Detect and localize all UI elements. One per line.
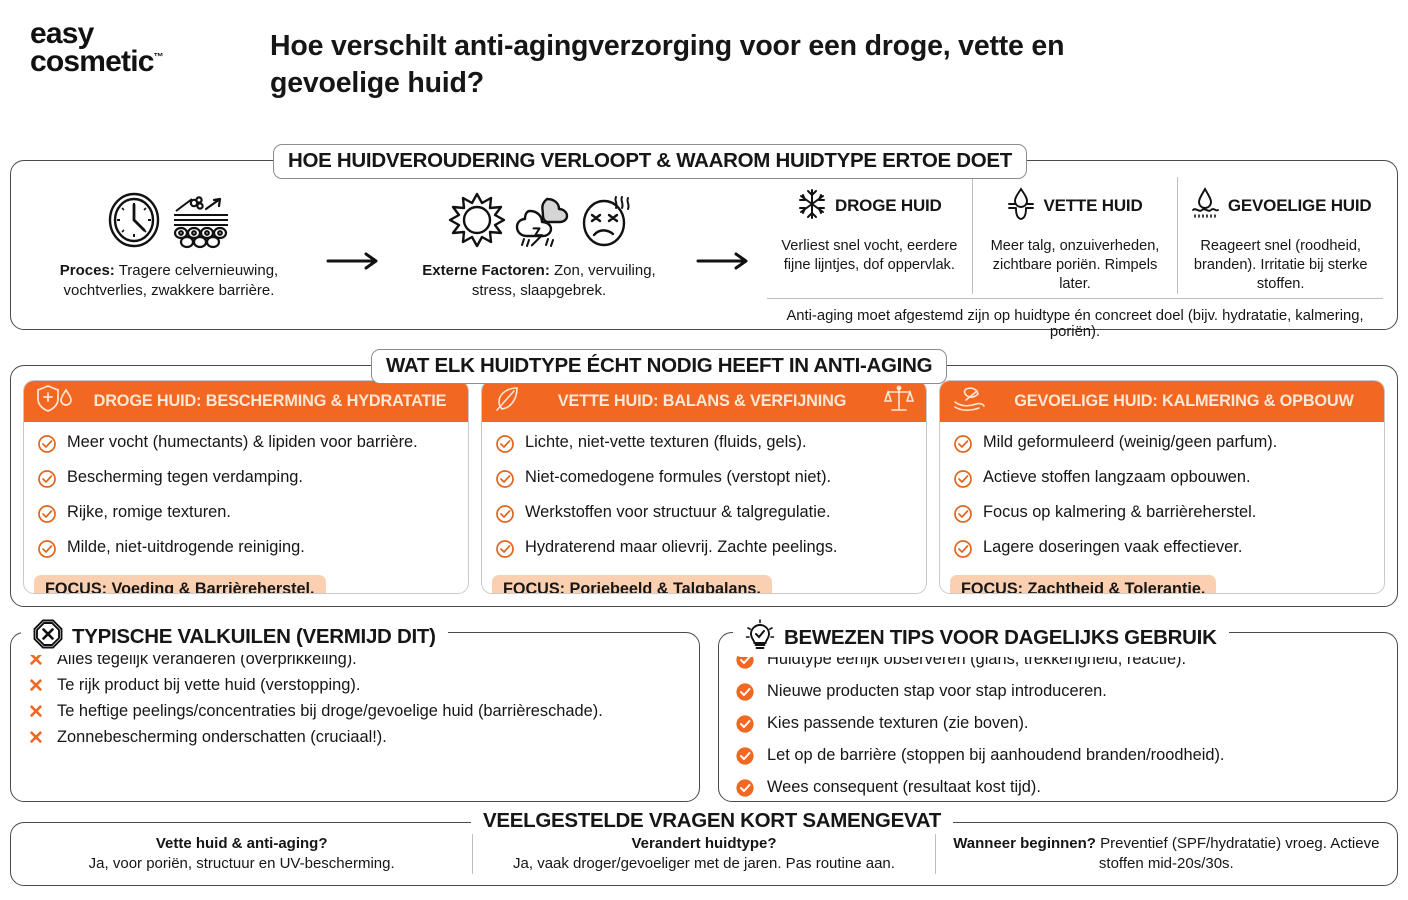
section-tips: BEWEZEN TIPS VOOR DAGELIJKS GEBRUIK Huid… [718, 632, 1398, 802]
list-item: Lagere doseringen vaak effectiever. [953, 538, 1371, 565]
flow-step-process: Proces: Tragere celvernieuwing, vochtver… [19, 177, 319, 319]
skin-type-dry: DROGE HUID Verliest snel vocht, eerdere … [767, 177, 972, 294]
x-mark-icon: ✕ [27, 701, 45, 722]
faq-item-2: Verandert huidtype? Ja, vaak droger/gevo… [472, 834, 934, 875]
section-title-faq: VEELGESTELDE VRAGEN KORT SAMENGEVAT [471, 809, 953, 833]
card-oily-skin: VETTE HUID: BALANS & VERFIJNING Lichte, … [481, 380, 927, 594]
list-item: Lichte, niet-vette texturen (fluids, gel… [495, 433, 913, 460]
list-item-text: Focus op kalmering & barrièreherstel. [983, 503, 1256, 523]
card-oily-skin-header: VETTE HUID: BALANS & VERFIJNING [482, 381, 926, 422]
list-item-text: Lichte, niet-vette texturen (fluids, gel… [525, 433, 807, 453]
feather-icon [494, 385, 520, 418]
trademark-mark: ™ [154, 52, 163, 63]
faq-item-3: Wanneer beginnen? Preventief (SPF/hydrat… [935, 834, 1397, 875]
card-sensitive-skin-title: GEVOELIGE HUID: KALMERING & OPBOUW [996, 392, 1372, 411]
faq-item-3-answer: Preventief (SPF/hydratatie) vroeg. Actie… [1096, 835, 1379, 872]
skin-type-oily-label: VETTE HUID [1043, 196, 1142, 216]
flow-step-external-label: Externe Factoren: [422, 262, 550, 279]
check-circle-icon [37, 503, 57, 530]
flow-step-process-caption: Proces: Tragere celvernieuwing, vochtver… [19, 261, 319, 301]
list-item: Rijke, romige texturen. [37, 503, 455, 530]
snowflake-icon [797, 188, 827, 225]
check-circle-icon [37, 538, 57, 565]
check-circle-filled-icon [735, 745, 755, 772]
section-title-pitfalls-wrap: TYPISCHE VALKUILEN (VERMIJD DIT) [21, 619, 448, 655]
list-item: ✕ Te heftige peelings/concentraties bij … [27, 701, 685, 722]
section-title-needs: WAT ELK HUIDTYPE ÉCHT NODIG HEEFT IN ANT… [371, 349, 947, 384]
list-item: Bescherming tegen verdamping. [37, 468, 455, 495]
faq-item-1: Vette huid & anti-aging? Ja, voor poriën… [11, 834, 472, 875]
list-item-text: Meer vocht (humectants) & lipiden voor b… [67, 433, 418, 453]
list-item-text: Niet-comedogene formules (verstopt niet)… [525, 468, 831, 488]
droplet-irritation-icon [1190, 187, 1220, 226]
section-pitfalls: TYPISCHE VALKUILEN (VERMIJD DIT) ✕ Alles… [10, 632, 700, 802]
x-mark-icon: ✕ [27, 727, 45, 748]
list-item-text: Let op de barrière (stoppen bij aanhoude… [767, 745, 1224, 766]
card-dry-skin-title: DROGE HUID: BESCHERMING & HYDRATATIE [84, 392, 456, 411]
tips-list: Huidtype eerlijk observeren (glans, trek… [719, 633, 1397, 804]
faq-item-1-question: Vette huid & anti-aging? [156, 835, 328, 852]
list-item: ✕ Te rijk product bij vette huid (versto… [27, 675, 685, 696]
x-mark-icon: ✕ [27, 675, 45, 696]
check-circle-filled-icon [735, 777, 755, 804]
list-item: Hydraterend maar olievrij. Zachte peelin… [495, 538, 913, 565]
check-circle-filled-icon [735, 713, 755, 740]
section-title-pitfalls: TYPISCHE VALKUILEN (VERMIJD DIT) [72, 625, 436, 649]
skin-type-oily: VETTE HUID Meer talg, onzuiverheden, zic… [972, 177, 1178, 294]
check-circle-icon [953, 468, 973, 495]
list-item: Meer vocht (humectants) & lipiden voor b… [37, 433, 455, 460]
list-item-text: Mild geformuleerd (weinig/geen parfum). [983, 433, 1277, 453]
skin-type-oily-desc: Meer talg, onzuiverheden, zichtbare pori… [983, 237, 1168, 294]
skin-type-sensitive-desc: Reageert snel (roodheid, branden). Irrit… [1188, 237, 1373, 294]
check-circle-icon [495, 503, 515, 530]
faq-item-1-answer: Ja, voor poriën, structuur en UV-bescher… [89, 855, 395, 872]
stressed-face-icon [580, 191, 630, 254]
section-title-aging: HOE HUIDVEROUDERING VERLOOPT & WAAROM HU… [273, 144, 1027, 179]
balance-scale-icon [884, 384, 914, 419]
list-item-text: Werkstoffen voor structuur & talgregulat… [525, 503, 831, 523]
skin-type-sensitive-label: GEVOELIGE HUID [1228, 196, 1372, 216]
section-what-each-type-needs: WAT ELK HUIDTYPE ÉCHT NODIG HEEFT IN ANT… [10, 365, 1398, 607]
flow-step-external: Externe Factoren: Zon, vervuiling, stres… [389, 177, 689, 319]
list-item: Niet-comedogene formules (verstopt niet)… [495, 468, 913, 495]
list-item-text: Te heftige peelings/concentraties bij dr… [57, 701, 603, 722]
flow-step-external-caption: Externe Factoren: Zon, vervuiling, stres… [389, 261, 689, 301]
list-item: Mild geformuleerd (weinig/geen parfum). [953, 433, 1371, 460]
shield-plus-droplet-icon [36, 384, 74, 419]
card-dry-skin-header: DROGE HUID: BESCHERMING & HYDRATATIE [24, 381, 468, 422]
flow-step-process-icons [19, 189, 319, 255]
list-item: Focus op kalmering & barrièreherstel. [953, 503, 1371, 530]
check-circle-icon [495, 433, 515, 460]
card-sensitive-skin-header: GEVOELIGE HUID: KALMERING & OPBOUW [940, 381, 1384, 422]
card-dry-skin-focus: FOCUS: Voeding & Barrièreherstel. [34, 575, 326, 594]
skin-type-sensitive: GEVOELIGE HUID Reageert snel (roodheid, … [1177, 177, 1383, 294]
flow-arrow-1 [319, 177, 389, 319]
faq-item-2-question: Verandert huidtype? [631, 835, 776, 852]
list-item: Milde, niet-uitdrogende reiniging. [37, 538, 455, 565]
sebum-pore-icon [1007, 187, 1035, 226]
check-circle-icon [495, 538, 515, 565]
faq-item-2-answer: Ja, vaak droger/gevoeliger met de jaren.… [513, 855, 895, 872]
card-dry-skin-items: Meer vocht (humectants) & lipiden voor b… [24, 422, 468, 573]
skin-types-summary: DROGE HUID Verliest snel vocht, eerdere … [759, 177, 1389, 319]
section-title-tips-wrap: BEWEZEN TIPS VOOR DAGELIJKS GEBRUIK [733, 619, 1229, 657]
brand-line-2: cosmetic™ [30, 48, 163, 76]
list-item-text: Kies passende texturen (zie boven). [767, 713, 1029, 734]
storm-cloud-icon [514, 191, 572, 254]
check-circle-filled-icon [735, 681, 755, 708]
flow-step-external-icons [389, 189, 689, 255]
page-header: easy cosmetic™ Hoe verschilt anti-agingv… [0, 0, 1408, 130]
list-item: Wees consequent (resultaat kost tijd). [735, 777, 1383, 804]
section-title-tips: BEWEZEN TIPS VOOR DAGELIJKS GEBRUIK [784, 626, 1217, 650]
card-dry-skin: DROGE HUID: BESCHERMING & HYDRATATIE Mee… [23, 380, 469, 594]
section-how-aging-works: HOE HUIDVEROUDERING VERLOOPT & WAAROM HU… [10, 160, 1398, 330]
list-item-text: Wees consequent (resultaat kost tijd). [767, 777, 1041, 798]
clock-icon [106, 191, 162, 254]
list-item: Let op de barrière (stoppen bij aanhoude… [735, 745, 1383, 772]
skin-type-dry-label: DROGE HUID [835, 196, 942, 216]
flow-arrow-2 [689, 177, 759, 319]
hand-leaf-icon [952, 385, 986, 418]
list-item-text: Zonnebescherming onderschatten (cruciaal… [57, 727, 387, 748]
brand-logo: easy cosmetic™ [0, 14, 270, 76]
check-circle-icon [37, 433, 57, 460]
lightbulb-check-icon [745, 619, 775, 657]
list-item: Nieuwe producten stap voor stap introduc… [735, 681, 1383, 708]
page-title: Hoe verschilt anti-agingverzorging voor … [270, 14, 1230, 102]
check-circle-icon [953, 538, 973, 565]
card-sensitive-skin-focus: FOCUS: Zachtheid & Tolerantie. [950, 575, 1216, 594]
list-item-text: Nieuwe producten stap voor stap introduc… [767, 681, 1107, 702]
list-item-text: Actieve stoffen langzaam opbouwen. [983, 468, 1251, 488]
list-item-text: Milde, niet-uitdrogende reiniging. [67, 538, 305, 558]
check-circle-icon [37, 468, 57, 495]
list-item-text: Bescherming tegen verdamping. [67, 468, 303, 488]
list-item: Werkstoffen voor structuur & talgregulat… [495, 503, 913, 530]
faq-item-3-question: Wanneer beginnen? [953, 835, 1096, 852]
card-sensitive-skin: GEVOELIGE HUID: KALMERING & OPBOUW Mild … [939, 380, 1385, 594]
card-oily-skin-title: VETTE HUID: BALANS & VERFIJNING [530, 392, 874, 411]
list-item: Kies passende texturen (zie boven). [735, 713, 1383, 740]
sun-icon [448, 191, 506, 254]
aging-footnote: Anti-aging moet afgestemd zijn op huidty… [767, 298, 1383, 340]
check-circle-icon [953, 433, 973, 460]
list-item-text: Rijke, romige texturen. [67, 503, 231, 523]
flow-step-process-label: Proces: [60, 262, 115, 279]
card-oily-skin-focus: FOCUS: Poriebeeld & Talgbalans. [492, 575, 772, 594]
list-item-text: Hydraterend maar olievrij. Zachte peelin… [525, 538, 837, 558]
check-circle-icon [495, 468, 515, 495]
brand-line-1: easy [30, 20, 270, 48]
skin-layers-moisture-loss-icon [170, 191, 232, 254]
octagon-x-icon [33, 619, 63, 655]
list-item: ✕ Zonnebescherming onderschatten (crucia… [27, 727, 685, 748]
list-item-text: Te rijk product bij vette huid (verstopp… [57, 675, 360, 696]
list-item-text: Lagere doseringen vaak effectiever. [983, 538, 1242, 558]
section-faq: VEELGESTELDE VRAGEN KORT SAMENGEVAT Vett… [10, 822, 1398, 886]
skin-type-dry-desc: Verliest snel vocht, eerdere fijne lijnt… [777, 237, 962, 275]
check-circle-icon [953, 503, 973, 530]
card-oily-skin-items: Lichte, niet-vette texturen (fluids, gel… [482, 422, 926, 573]
card-sensitive-skin-items: Mild geformuleerd (weinig/geen parfum). … [940, 422, 1384, 573]
list-item: Actieve stoffen langzaam opbouwen. [953, 468, 1371, 495]
